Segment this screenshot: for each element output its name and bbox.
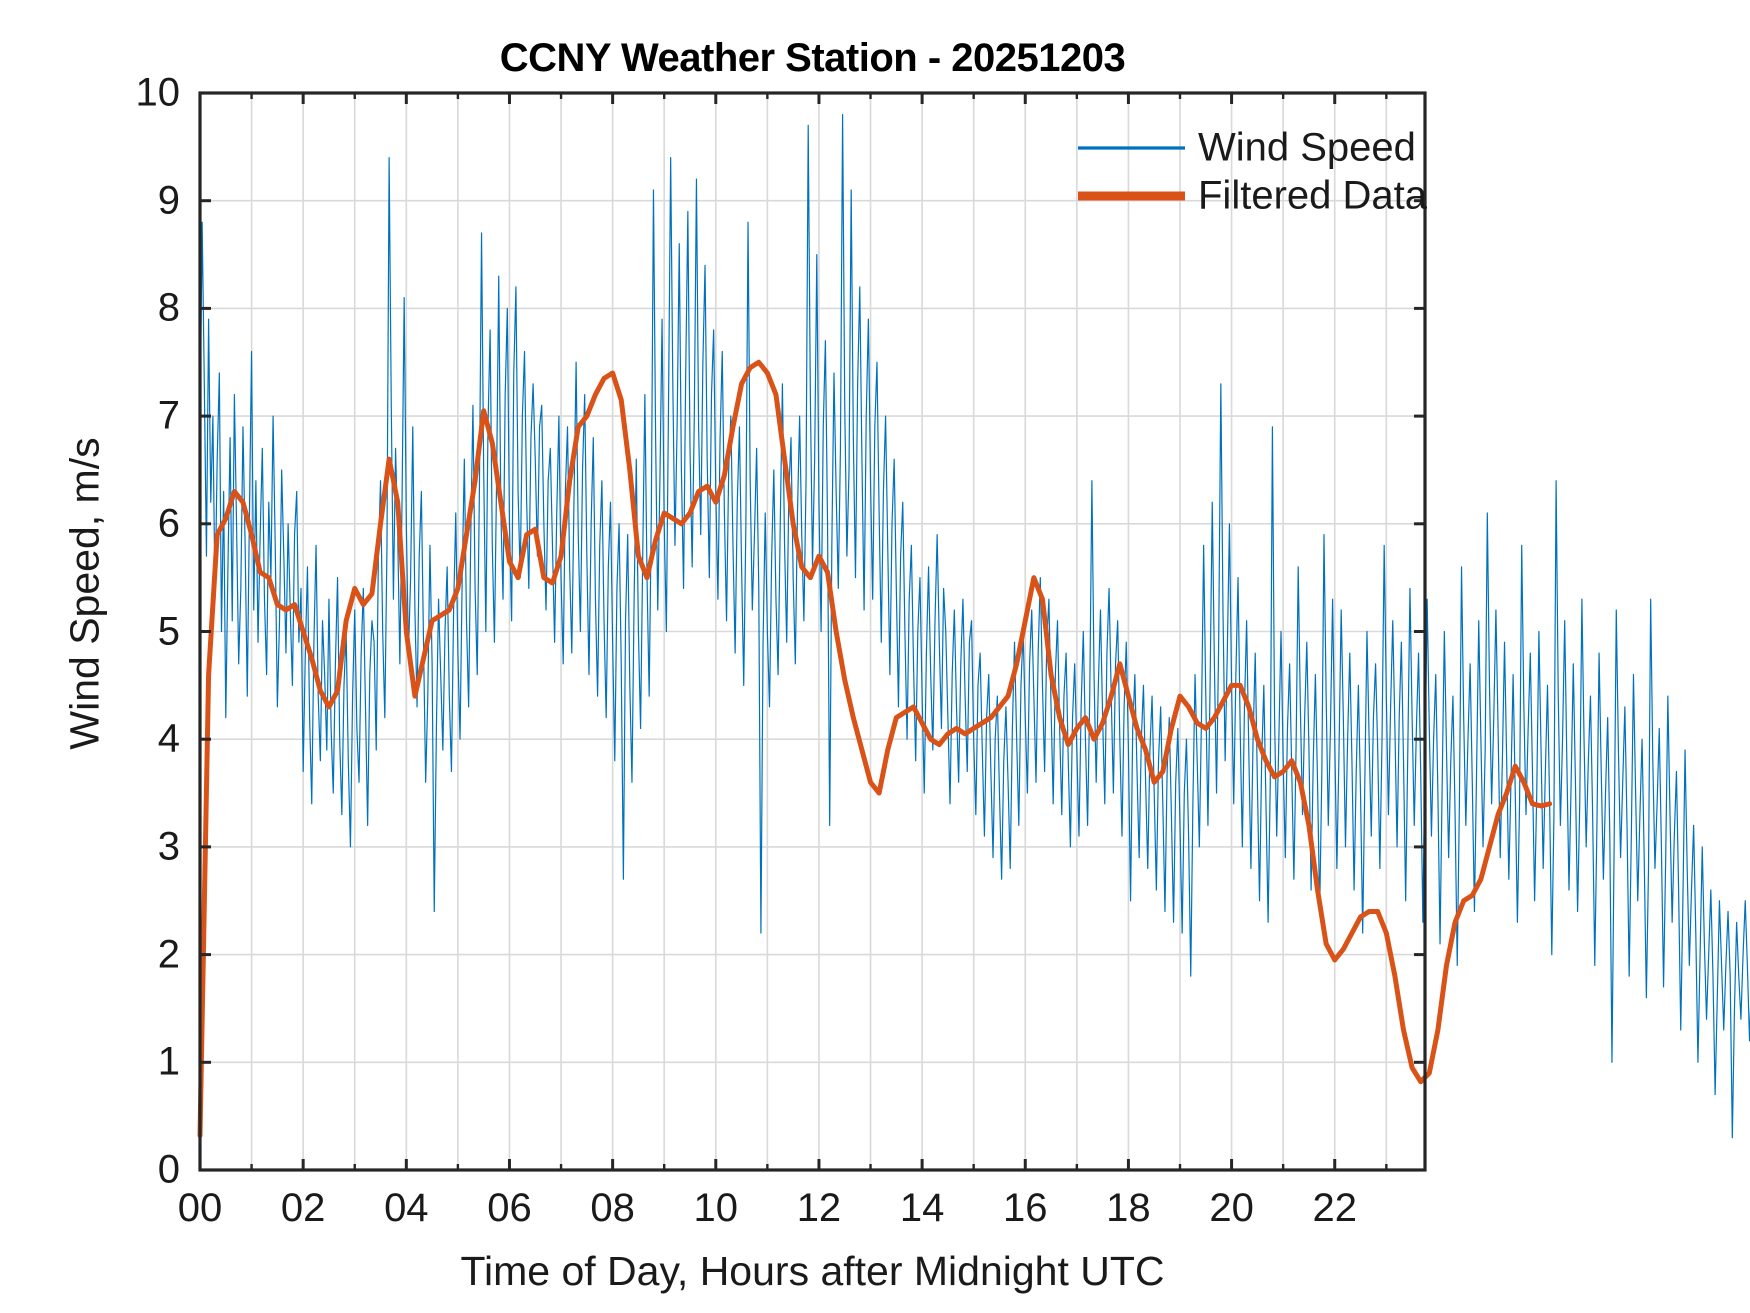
- x-tick-label: 18: [1106, 1186, 1151, 1231]
- x-tick-label: 12: [797, 1186, 842, 1231]
- y-tick-label: 6: [60, 501, 180, 546]
- y-tick-label: 5: [60, 609, 180, 654]
- y-tick-label: 7: [60, 394, 180, 439]
- y-tick-label: 8: [60, 286, 180, 331]
- x-tick-label: 20: [1209, 1186, 1254, 1231]
- x-tick-label: 02: [281, 1186, 326, 1231]
- y-tick-label: 10: [60, 71, 180, 116]
- legend-label-1: Filtered Data: [1198, 174, 1427, 219]
- x-tick-label: 16: [1003, 1186, 1048, 1231]
- y-tick-label: 4: [60, 717, 180, 762]
- chart-plot: [0, 0, 1750, 1313]
- y-tick-label: 3: [60, 824, 180, 869]
- x-tick-label: 06: [487, 1186, 532, 1231]
- legend-label-0: Wind Speed: [1198, 126, 1416, 171]
- y-tick-label: 2: [60, 932, 180, 977]
- data-series-group: [200, 115, 1750, 1160]
- figure-canvas: CCNY Weather Station - 20251203 Wind Spe…: [0, 0, 1750, 1313]
- x-tick-label: 22: [1312, 1186, 1357, 1231]
- y-tick-label: 1: [60, 1040, 180, 1085]
- grid-lines: [200, 93, 1425, 1170]
- x-tick-label: 08: [590, 1186, 635, 1231]
- x-tick-label: 10: [694, 1186, 739, 1231]
- y-tick-label: 0: [60, 1148, 180, 1193]
- series-line-0: [200, 115, 1750, 1160]
- y-tick-label: 9: [60, 178, 180, 223]
- x-tick-label: 04: [384, 1186, 429, 1231]
- x-tick-label: 00: [178, 1186, 223, 1231]
- legend: [1078, 148, 1185, 196]
- x-tick-label: 14: [900, 1186, 945, 1231]
